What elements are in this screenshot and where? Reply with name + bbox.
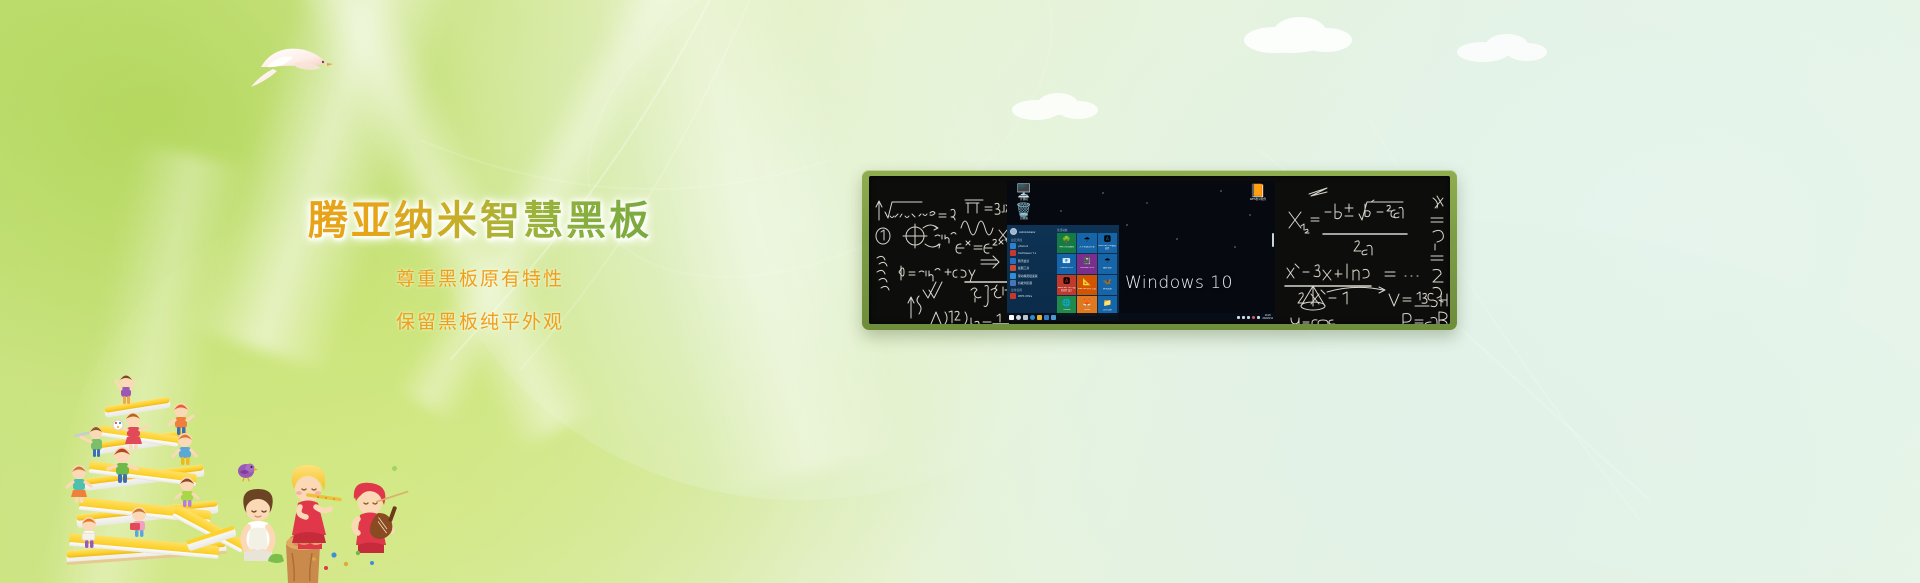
start-menu-left-column: Administrator 最近添加 µTorrent CAJViewer 7.…: [1007, 225, 1055, 321]
tile-label: Outlook 2013: [1060, 267, 1073, 270]
start-menu-item[interactable]: 驱动精灵极速版: [1010, 273, 1053, 279]
tile-label: AutoCAD 2019 图形软件 设计: [1057, 287, 1076, 292]
blackboard-surface: 🖥️ 计算机 🗑️ 回收站 📙 WPS办公软件 Windows 10: [869, 176, 1450, 324]
recycle-bin-icon: 🗑️: [1011, 203, 1037, 216]
start-menu-item[interactable]: WPS Office: [1010, 293, 1053, 299]
tile-icon: 📐: [1083, 279, 1092, 287]
volume-icon[interactable]: [1242, 316, 1245, 319]
tile-icon: 🦊: [1083, 300, 1092, 308]
app-icon: [1010, 250, 1016, 256]
app-icon: [1010, 243, 1016, 249]
tile-icon: 🌐: [1062, 300, 1071, 308]
desktop-icon-label: 计算机: [1011, 198, 1037, 201]
tile-label: MATLAB 科学计算: [1078, 288, 1096, 291]
blackboard-device: 🖥️ 计算机 🗑️ 回收站 📙 WPS办公软件 Windows 10: [862, 170, 1457, 330]
child-teal-shirt: [67, 465, 91, 503]
start-tile[interactable]: 🌳 本机小游戏教程: [1057, 233, 1076, 253]
start-tile[interactable]: 📧 Outlook 2013: [1057, 254, 1076, 274]
ime-icon[interactable]: [1247, 316, 1250, 319]
start-menu-tiles-column: 生活动态 🌳 本机小游戏教程 ☂ 大学慕课公开课 🅰: [1055, 225, 1119, 321]
tile-icon: 📁: [1103, 300, 1112, 308]
cloud-icon: [1010, 88, 1102, 122]
tile-label: 腾讯视频: [1103, 288, 1112, 291]
windows-display: 🖥️ 计算机 🗑️ 回收站 📙 WPS办公软件 Windows 10: [1007, 181, 1275, 321]
app-icon: [1010, 265, 1016, 271]
dove-icon: [243, 33, 333, 88]
desktop-icon-wps[interactable]: 📙 WPS办公软件: [1245, 184, 1271, 201]
girl-playing-violin: [354, 483, 409, 553]
desktop-icon-label: 回收站: [1011, 217, 1037, 220]
child-with-flute: [74, 427, 102, 457]
store-icon[interactable]: [1044, 315, 1049, 320]
subtitle-line-2: 保留黑板纯平外观: [300, 307, 660, 334]
tile-icon: 🦋: [1103, 279, 1112, 287]
start-tile[interactable]: 📐 MATLAB 科学计算: [1077, 275, 1096, 295]
app-icon: [1010, 280, 1016, 286]
scrollbar-handle[interactable]: [1272, 233, 1274, 247]
cloud-icon: [1240, 10, 1360, 56]
tile-label: 本机小游戏教程: [1059, 246, 1074, 249]
confetti-dot: [392, 466, 397, 471]
network-icon[interactable]: [1237, 316, 1240, 319]
start-menu-item-label: CAJViewer 7.2: [1018, 251, 1036, 255]
battery-icon[interactable]: [1257, 316, 1260, 319]
app-icon: [1010, 258, 1016, 264]
app-icon: [1010, 293, 1016, 299]
tile-label: 播放电影: [1103, 267, 1112, 270]
start-menu-item[interactable]: 谷歌浏览器: [1010, 280, 1053, 286]
tile-grid: 🌳 本机小游戏教程 ☂ 大学慕课公开课 🅰 AutoCAD Lite图形软件: [1057, 233, 1117, 316]
avatar: [1010, 228, 1017, 235]
page-title: 腾亚纳米智慧黑板: [300, 198, 660, 244]
children-illustration: [28, 355, 418, 583]
tile-label: 文件资源: [1103, 309, 1112, 312]
headline-block: 腾亚纳米智慧黑板 尊重黑板原有特性 保留黑板纯平外观: [300, 198, 660, 334]
desktop-icon-computer[interactable]: 🖥️ 计算机: [1011, 184, 1037, 201]
confetti-dot: [370, 561, 374, 565]
taskbar[interactable]: 10:26 2020/8/14: [1007, 313, 1275, 321]
chalk-formulas-left: [873, 186, 1009, 324]
tile-label: AutoCAD Lite图形软件: [1098, 245, 1117, 250]
tile-label: Chrome: [1063, 309, 1071, 312]
tile-label: 大学慕课公开课: [1079, 246, 1094, 249]
promo-banner: 腾亚纳米智慧黑板 尊重黑板原有特性 保留黑板纯平外观: [0, 0, 1920, 583]
bird-icon: [238, 464, 258, 482]
wps-office-icon: 📙: [1245, 184, 1271, 197]
computer-icon: 🖥️: [1011, 184, 1037, 197]
start-menu-item[interactable]: 截图工具: [1010, 265, 1053, 271]
start-menu-item-label: µTorrent: [1018, 244, 1028, 248]
start-menu-user[interactable]: Administrator: [1010, 228, 1053, 235]
start-tile[interactable]: ☂ 播放电影: [1098, 254, 1117, 274]
chalk-formulas-right: [1281, 182, 1449, 324]
start-menu-item-label: 截图工具: [1018, 266, 1029, 270]
start-menu-item-label: 驱动精灵极速版: [1018, 274, 1038, 278]
child-orange-shirt: [169, 403, 193, 435]
clock-date: 2020/8/14: [1262, 317, 1273, 320]
confetti-dot: [331, 552, 336, 557]
start-menu-item[interactable]: 腾讯会议: [1010, 258, 1053, 264]
app-icon: [1010, 273, 1016, 279]
start-menu-item-label: 谷歌浏览器: [1018, 281, 1032, 285]
tile-label: Firefox: [1084, 309, 1091, 312]
desktop-icon-label: WPS办公软件: [1245, 198, 1271, 201]
start-menu-item-label: 腾讯会议: [1018, 259, 1029, 263]
windows-brand-text: Windows 10: [1125, 273, 1233, 293]
user-name: Administrator: [1019, 230, 1035, 234]
start-menu-item[interactable]: µTorrent: [1010, 243, 1053, 249]
cloud-icon: [1455, 30, 1551, 64]
desktop-icon-recycle-bin[interactable]: 🗑️ 回收站: [1011, 203, 1037, 220]
start-tile[interactable]: 🅰 AutoCAD 2019 图形软件 设计: [1057, 275, 1076, 295]
start-button[interactable]: [1009, 315, 1014, 320]
tile-icon: 📓: [1083, 258, 1092, 266]
heart-icon[interactable]: [1252, 316, 1255, 319]
recent-section-label: 最近添加: [1011, 238, 1053, 242]
tile-label: OneNote 2013: [1080, 267, 1094, 270]
child-climbing-top: [116, 375, 135, 404]
mail-icon[interactable]: [1051, 315, 1056, 320]
frequent-section-label: 最常使用: [1011, 288, 1053, 292]
confetti-dot: [324, 566, 328, 570]
confetti-dot: [356, 551, 360, 555]
confetti-dot: [344, 562, 348, 566]
start-tile[interactable]: ☂ 大学慕课公开课: [1077, 233, 1096, 253]
tile-icon: ☂: [1084, 237, 1090, 245]
edge-icon[interactable]: [1030, 315, 1035, 320]
start-tile[interactable]: 📓 OneNote 2013: [1077, 254, 1096, 274]
tiles-section-label: 生活动态: [1057, 228, 1117, 232]
task-view-icon[interactable]: [1023, 315, 1028, 320]
girl-playing-flute: [292, 465, 342, 549]
subtitle-line-1: 尊重黑板原有特性: [300, 264, 660, 291]
confetti-dot: [312, 557, 316, 561]
tile-icon: 🅰: [1063, 278, 1070, 286]
tile-icon: 🌳: [1062, 237, 1071, 245]
start-menu[interactable]: Administrator 最近添加 µTorrent CAJViewer 7.…: [1007, 225, 1119, 321]
start-menu-item[interactable]: CAJViewer 7.2: [1010, 250, 1053, 256]
taskbar-clock[interactable]: 10:26 2020/8/14: [1262, 314, 1273, 320]
start-tile[interactable]: 🅰 AutoCAD Lite图形软件: [1098, 233, 1117, 253]
start-tile[interactable]: 🦋 腾讯视频: [1098, 275, 1117, 295]
tile-icon: 📧: [1062, 258, 1071, 266]
boy-sitting: [243, 489, 272, 561]
tile-icon: 🅰: [1104, 236, 1111, 244]
search-icon[interactable]: [1016, 315, 1021, 320]
start-menu-item-label: WPS Office: [1018, 294, 1032, 298]
tile-icon: ☂: [1104, 258, 1110, 266]
explorer-icon[interactable]: [1037, 315, 1042, 320]
